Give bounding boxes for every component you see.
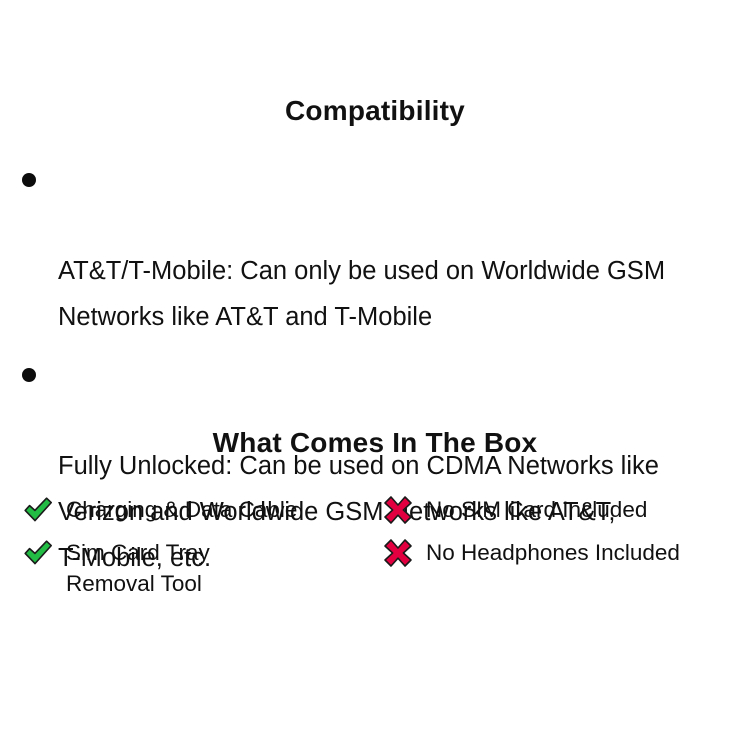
list-item: Sim Card Tray Removal Tool <box>22 536 382 599</box>
green-check-icon <box>22 537 54 569</box>
bullet-dot-icon <box>22 173 36 187</box>
list-item: No Headphones Included <box>382 536 750 599</box>
list-item-label: No Headphones Included <box>426 536 680 568</box>
compatibility-heading: Compatibility <box>0 95 750 127</box>
list-item-label: No SIM Card Included <box>426 493 647 525</box>
list-item-label: AT&T/T-Mobile: Can only be used on World… <box>58 257 665 331</box>
red-cross-icon <box>382 494 414 526</box>
list-item-label: Charging & Data Cable <box>66 493 297 525</box>
product-info-panel: Compatibility AT&T/T-Mobile: Can only be… <box>0 0 750 750</box>
list-item: No SIM Card Included <box>382 493 750 526</box>
box-contents-heading: What Comes In The Box <box>0 427 750 459</box>
red-cross-icon <box>382 537 414 569</box>
list-item: AT&T/T-Mobile: Can only be used on World… <box>18 156 736 340</box>
bullet-dot-icon <box>22 368 36 382</box>
box-contents-grid: Charging & Data Cable No SIM Card Includ… <box>0 493 750 599</box>
green-check-icon <box>22 494 54 526</box>
list-item: Charging & Data Cable <box>22 493 382 526</box>
list-item-label: Sim Card Tray Removal Tool <box>66 536 210 599</box>
